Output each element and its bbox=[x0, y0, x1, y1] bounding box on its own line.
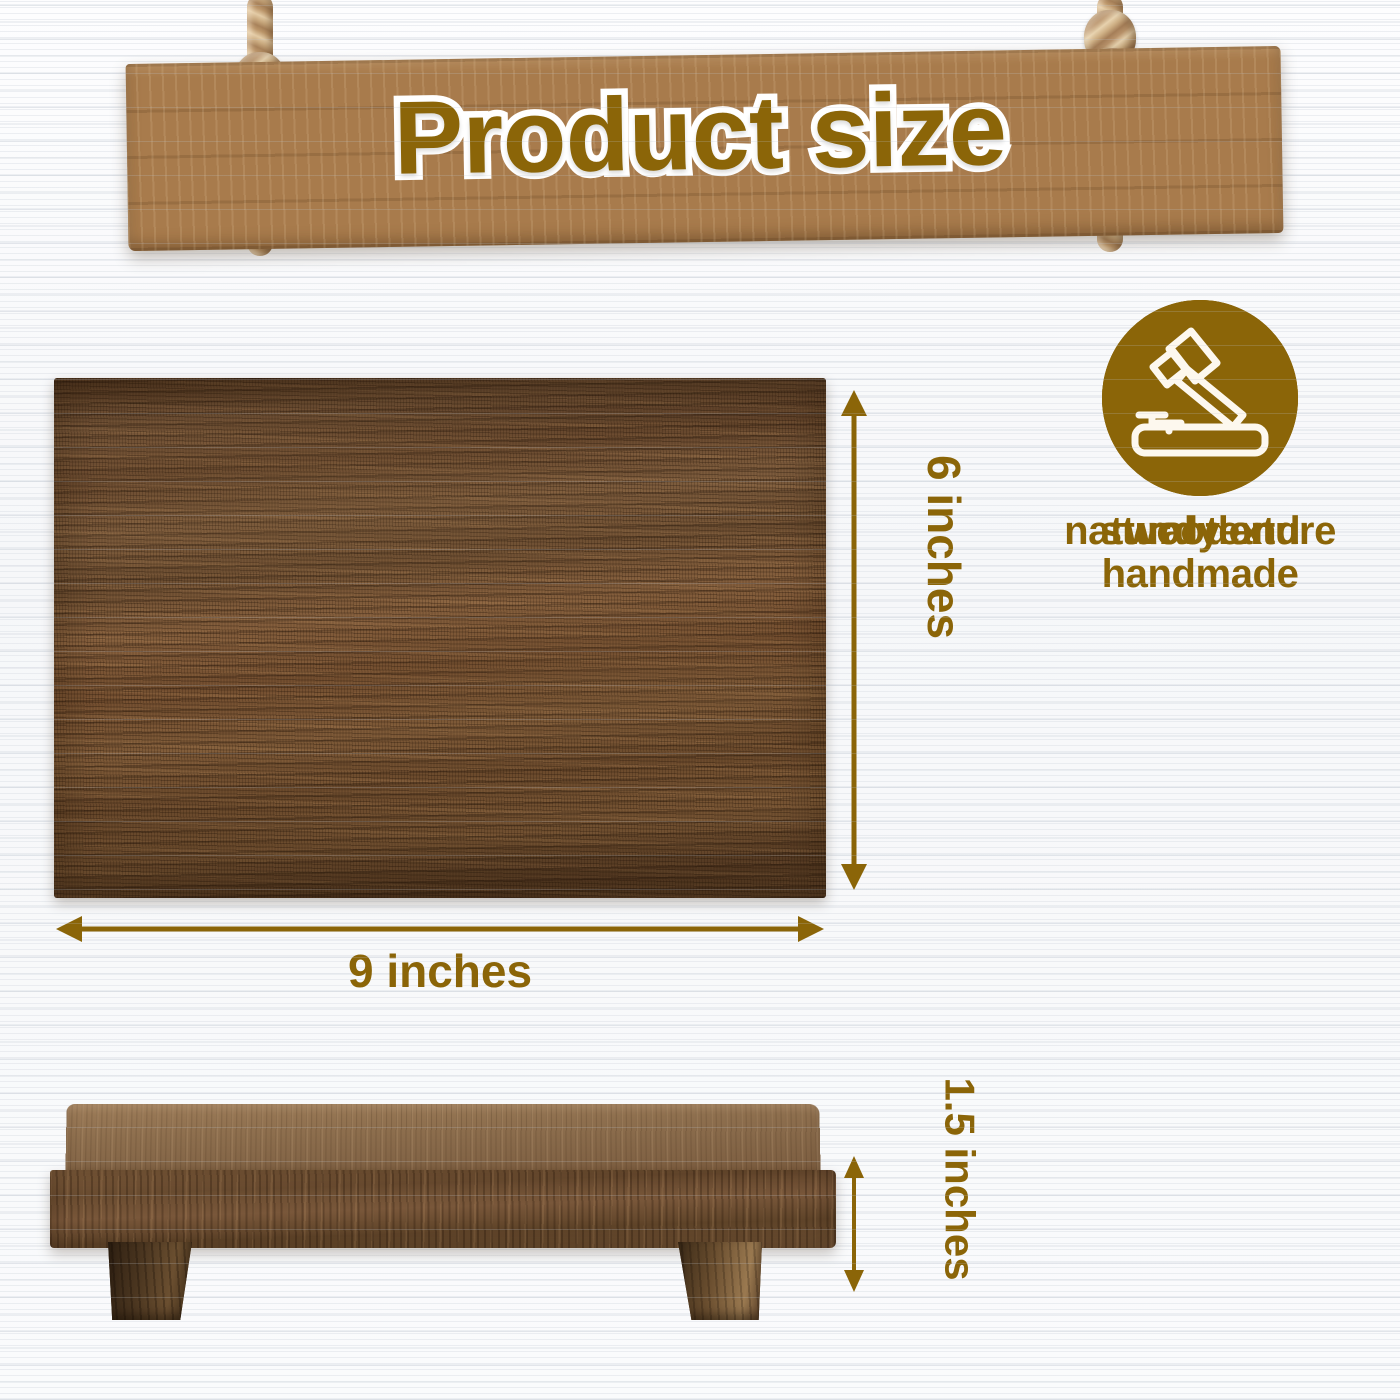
arrow-shaft bbox=[852, 406, 857, 874]
riser-leg-right bbox=[678, 1242, 762, 1320]
arrow-head-right bbox=[798, 916, 824, 942]
product-top-view-image bbox=[54, 378, 826, 898]
dimension-label-width: 9 inches bbox=[0, 944, 880, 998]
riser-slab-front-face bbox=[50, 1170, 836, 1248]
feature-item-sturdy-handmade: sturdy and handmade bbox=[1000, 300, 1400, 596]
hammer-and-nails-icon bbox=[1125, 323, 1275, 473]
riser-slab-top-surface bbox=[65, 1104, 820, 1178]
feature-label-line2: handmade bbox=[1102, 552, 1299, 596]
dimension-arrow-thickness bbox=[841, 1156, 867, 1292]
header-sign: Product size bbox=[0, 0, 1400, 270]
arrow-shaft bbox=[852, 1170, 856, 1278]
feature-label-sturdy-handmade: sturdy and handmade bbox=[1000, 510, 1400, 596]
arrow-shaft bbox=[72, 927, 808, 932]
page-title: Product size bbox=[0, 71, 1400, 197]
feature-label-line1: sturdy and bbox=[1100, 509, 1300, 553]
arrow-head-down bbox=[841, 864, 867, 890]
infographic-canvas: Product size 6 inches 9 inches 1.5 inche… bbox=[0, 0, 1400, 1400]
dimension-arrow-width bbox=[56, 916, 824, 942]
dimension-label-height: 6 inches bbox=[917, 455, 971, 639]
riser-leg-left bbox=[108, 1242, 192, 1320]
feature-list: wooden natural texture bbox=[1000, 300, 1400, 1400]
dimension-label-thickness: 1.5 inches bbox=[936, 1077, 984, 1280]
feature-badge-sturdy-handmade bbox=[1102, 300, 1298, 496]
arrow-head-down bbox=[844, 1270, 864, 1292]
product-side-view-image bbox=[42, 1100, 842, 1320]
dimension-arrow-height bbox=[841, 390, 867, 890]
